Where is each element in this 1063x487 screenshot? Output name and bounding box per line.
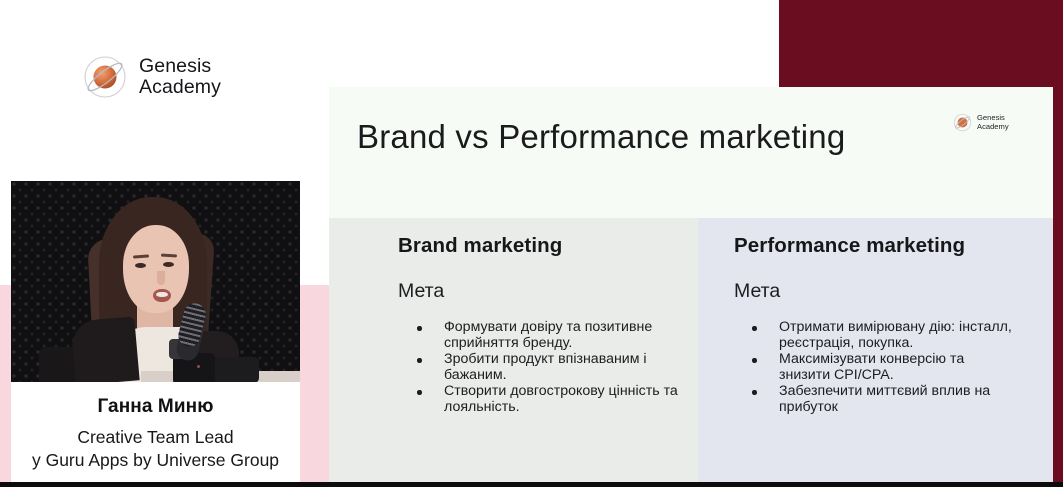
- column-performance-marketing: Performance marketing Мета Отримати вимі…: [698, 218, 1053, 482]
- column-subheading: Мета: [734, 280, 780, 303]
- saturn-planet-icon: [82, 54, 128, 100]
- column-subheading: Мета: [398, 280, 444, 303]
- column-heading: Brand marketing: [398, 234, 562, 258]
- list-item: Забезпечити миттєвий вплив на прибуток: [746, 384, 1014, 415]
- nose: [157, 271, 165, 285]
- list-item: Формувати довіру та позитивне сприйняття…: [411, 320, 683, 351]
- list-item: Отримати вимірювану дію: інсталл, реєстр…: [746, 320, 1014, 351]
- eye-right: [163, 262, 174, 267]
- slide-columns: Brand marketing Мета Формувати довіру та…: [329, 218, 1053, 482]
- slide-logo-wordmark: Genesis Academy: [977, 114, 1009, 132]
- logo-line-1: Genesis: [139, 56, 221, 77]
- speaker-role: Creative Team Lead: [11, 427, 300, 448]
- speaker-name-card: Ганна Миню Creative Team Lead у Guru App…: [11, 382, 300, 482]
- bottom-black-bar: [0, 482, 1063, 487]
- blazer-left: [70, 316, 139, 382]
- slide-title: Brand vs Performance marketing: [357, 118, 845, 156]
- column-brand-marketing: Brand marketing Мета Формувати довіру та…: [329, 218, 698, 482]
- genesis-academy-logo: Genesis Academy: [82, 54, 221, 100]
- maroon-right-edge-strip: [1053, 0, 1063, 482]
- presenter-panel: Genesis Academy: [0, 0, 329, 482]
- eye-left: [135, 263, 146, 268]
- speaker-organization: у Guru Apps by Universe Group: [11, 450, 300, 471]
- slide-header: Brand vs Performance marketing Genesis A…: [329, 87, 1053, 218]
- microphone-indicator-light: [197, 365, 200, 368]
- slide-logo-line-2: Academy: [977, 123, 1009, 132]
- saturn-planet-icon: [953, 113, 972, 132]
- logo-line-2: Academy: [139, 77, 221, 98]
- speaker-video-feed: [11, 181, 300, 382]
- list-item: Максимізувати конверсію та знизити CPI/C…: [746, 352, 1014, 383]
- slide-corner-logo: Genesis Academy: [953, 113, 1009, 132]
- bullet-list: Формувати довіру та позитивне сприйняття…: [411, 320, 683, 417]
- speaker-name: Ганна Миню: [11, 396, 300, 418]
- bullet-list: Отримати вимірювану дію: інсталл, реєстр…: [746, 320, 1014, 417]
- maroon-accent-block: [779, 0, 1063, 87]
- screen-stage: Genesis Academy: [0, 0, 1063, 487]
- list-item: Зробити продукт впізнаваним і бажаним.: [411, 352, 683, 383]
- column-heading: Performance marketing: [734, 234, 965, 258]
- list-item: Створити довгострокову цінність та лояль…: [411, 384, 683, 415]
- presentation-slide: Brand vs Performance marketing Genesis A…: [329, 87, 1053, 482]
- teeth: [156, 292, 168, 297]
- logo-wordmark: Genesis Academy: [139, 56, 221, 98]
